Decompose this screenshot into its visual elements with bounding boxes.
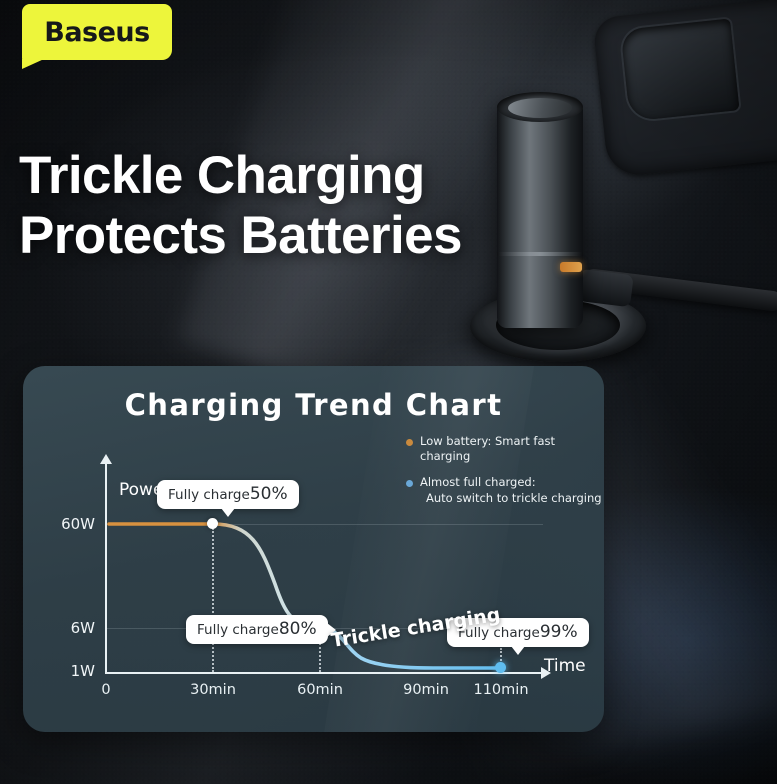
charging-curve-path [109,524,501,668]
tooltip-80-label: Fully charge [197,622,279,638]
tooltip-50-value: 50% [250,484,288,504]
tooltip-80-percent[interactable]: Fully charge80% [186,615,328,644]
tooltip-50-percent[interactable]: Fully charge50% [157,480,299,509]
baseus-logo: Baseus [22,4,172,60]
charging-trend-card: Charging Trend Chart Low battery: Smart … [23,366,604,732]
tooltip-50-label: Fully charge [168,487,250,503]
headline-line-2: Protects Batteries [19,210,539,262]
headline-line-1: Trickle Charging [19,150,539,202]
tooltip-99-value: 99% [540,622,578,642]
charging-curve-svg [23,366,604,732]
data-point-99[interactable] [495,662,506,673]
chart-plot-area: Power Time 60W 6W 1W 0 30min 60min 90min… [23,366,604,732]
baseus-logo-text: Baseus [44,17,149,48]
data-point-50[interactable] [207,518,218,529]
product-banner: Baseus Trickle Charging Protects Batteri… [0,0,777,784]
tooltip-80-value: 80% [279,619,317,639]
page-title: Trickle Charging Protects Batteries [19,150,539,262]
guide-30min [212,528,214,672]
